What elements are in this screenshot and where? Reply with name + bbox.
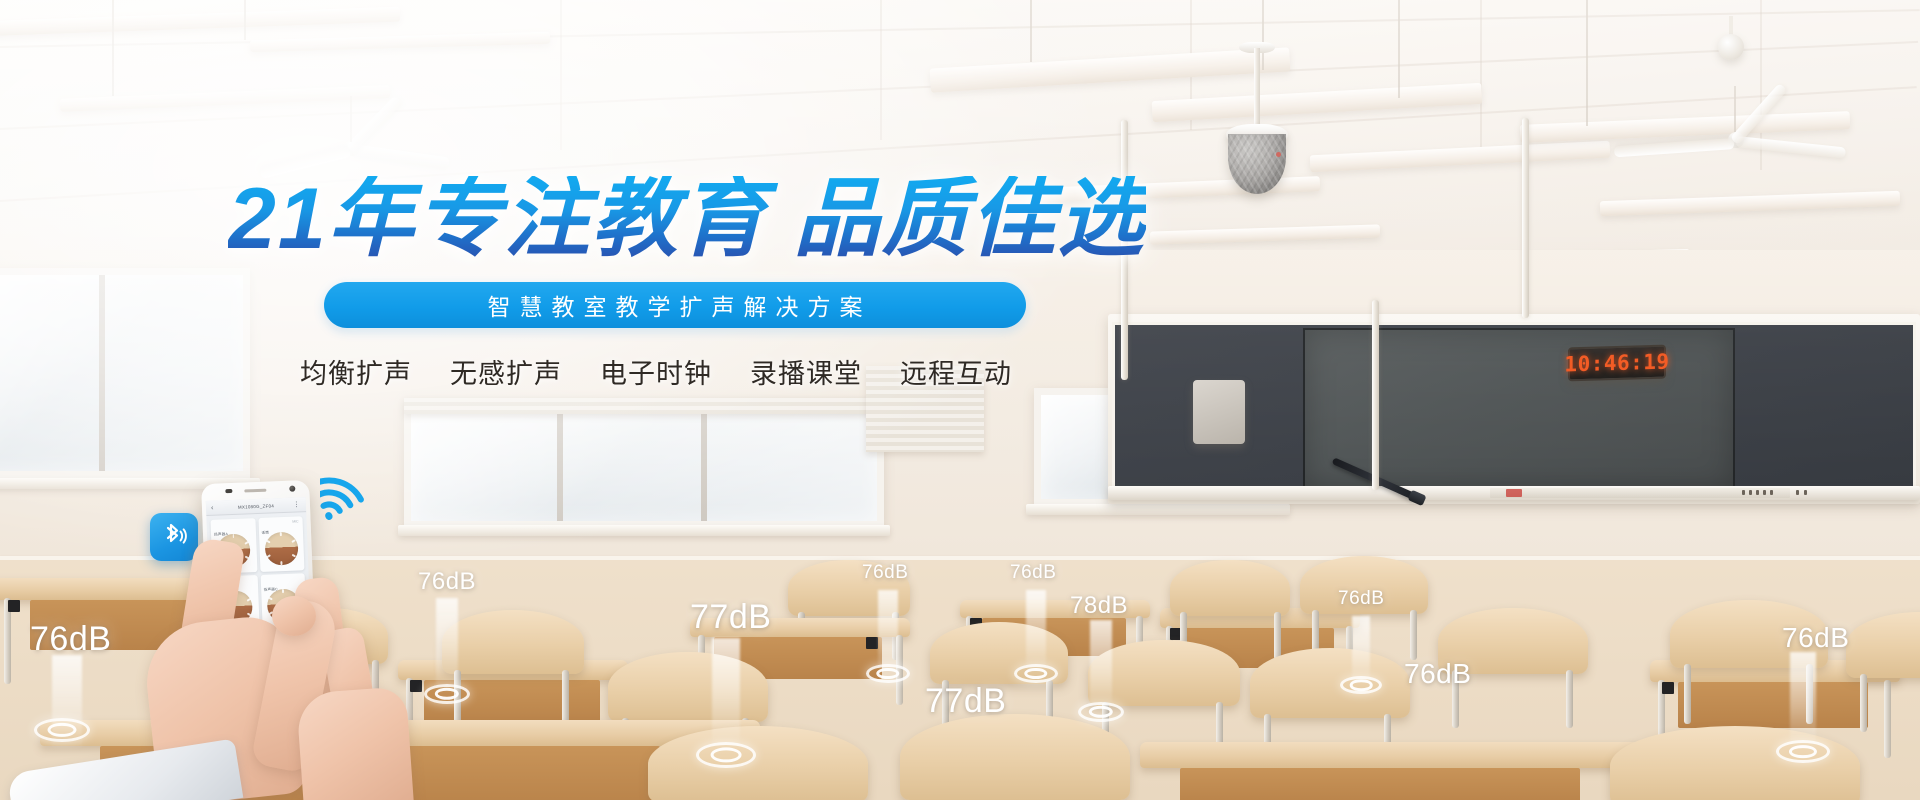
ceiling-rod [1262, 0, 1264, 70]
window-blind [404, 398, 884, 414]
chair-back [900, 714, 1130, 800]
desk-bracket [866, 637, 878, 649]
zone-name: 话筒 [261, 531, 269, 535]
chair-leg [1566, 670, 1573, 728]
rail-dot [1749, 490, 1752, 495]
desk-bracket [1662, 682, 1674, 694]
rail-panel [1490, 488, 1790, 498]
clock-time: 10:46:19 [1564, 350, 1669, 377]
ceiling-rod [1030, 0, 1032, 62]
sound-ripple-icon [424, 684, 470, 704]
chevron-left-icon[interactable]: ‹ [211, 504, 214, 511]
sound-ripple-icon [1014, 664, 1058, 683]
window-sill [398, 525, 890, 536]
zone-card[interactable]: 话筒MIC [258, 516, 305, 572]
ceiling-line [1480, 0, 1482, 150]
rail-dot [1770, 490, 1773, 495]
desk-top [1140, 742, 1640, 768]
interactive-display [1303, 328, 1735, 492]
chair-back [1610, 726, 1860, 800]
chair-back [648, 726, 868, 800]
chair-back [1300, 556, 1428, 614]
ceiling-rod [1586, 0, 1588, 126]
zone-badge: MIC [292, 519, 298, 523]
sound-ripple-icon [1776, 740, 1830, 763]
desk-panel [1180, 768, 1580, 800]
fan-rod [350, 96, 352, 142]
sound-ripple-icon [1078, 702, 1124, 722]
speaker-rod [1254, 48, 1260, 130]
chair-back [1170, 560, 1290, 616]
chair-back [1088, 640, 1240, 706]
subtitle-pill: 智慧教室教学扩声解决方案 [324, 282, 1026, 328]
support-pipe [1372, 300, 1379, 490]
bluetooth-icon[interactable] [150, 513, 198, 561]
rail-dot [1756, 490, 1759, 495]
front-camera-icon [289, 486, 295, 492]
sound-ripple-icon [1340, 676, 1382, 694]
window-mullion [99, 275, 105, 471]
chair-leg [1274, 612, 1281, 660]
feature-item-4: 录播课堂 [750, 352, 862, 391]
rail-dot [1804, 490, 1807, 495]
window-mullion [557, 405, 563, 521]
chair-leg [1452, 670, 1459, 728]
fingertip [272, 596, 316, 636]
earpiece-speaker [244, 489, 266, 493]
chair-leg [1410, 610, 1417, 660]
headline-part-2: 品质佳选 [794, 171, 1146, 267]
rail-dot [1742, 490, 1745, 495]
chair-back [1250, 648, 1410, 718]
chair-leg [1860, 674, 1867, 732]
wall-control-box [1193, 380, 1245, 444]
app-title: MX1080G_ZF04 [238, 503, 274, 509]
subtitle-text: 智慧教室教学扩声解决方案 [479, 288, 872, 322]
ceiling-line [560, 0, 562, 150]
chair-back [788, 560, 910, 616]
ceiling-rod [1398, 0, 1400, 98]
chair-back [1438, 608, 1588, 674]
more-vertical-icon[interactable]: ⋮ [293, 501, 300, 508]
chair-back [442, 610, 584, 674]
desk-leg [1884, 680, 1891, 758]
chair-back [608, 652, 768, 722]
feature-list: 均衡扩声无感扩声电子时钟录播课堂远程互动 [300, 352, 1012, 391]
chair-back [1670, 600, 1828, 668]
classroom-banner: 10:46:19 [0, 0, 1920, 800]
window-mullion [701, 405, 707, 521]
window-left [0, 268, 250, 478]
desk-panel [1678, 682, 1868, 728]
headline-part-1: 21年专注教育 [228, 171, 768, 267]
chair-leg [562, 670, 569, 726]
window-glare [0, 275, 243, 471]
desk-top [960, 600, 1150, 618]
sound-ripple-icon [696, 742, 756, 768]
proximity-sensor-icon [225, 489, 232, 493]
feature-item-5: 远程互动 [900, 352, 1012, 391]
rail-dot [1763, 490, 1766, 495]
ceiling-rod [112, 0, 114, 96]
wifi-signal-icon [320, 470, 376, 529]
ceiling-line [880, 0, 882, 140]
chair-leg [1684, 664, 1691, 724]
chair-leg [1806, 664, 1813, 724]
support-pipe [1522, 118, 1529, 318]
electronic-clock: 10:46:19 [1568, 345, 1666, 382]
fan-rod [1734, 86, 1736, 132]
sound-ripple-icon [866, 664, 910, 683]
window-glare [411, 405, 877, 521]
desk-bracket [410, 680, 422, 692]
rail-tag [1506, 489, 1522, 497]
window-sill [1026, 504, 1290, 515]
speaker-indicator [1276, 152, 1281, 157]
rail-dot [1796, 490, 1799, 495]
knuckle [296, 686, 414, 800]
ceiling-sensor [1718, 34, 1744, 60]
sound-ripple-icon [34, 718, 90, 742]
feature-item-2: 无感扩声 [450, 352, 562, 391]
feature-item-1: 均衡扩声 [300, 352, 412, 391]
ceiling-rod [244, 0, 246, 40]
zone-level-knob[interactable] [264, 531, 298, 565]
desk-bracket [8, 600, 20, 612]
page-title: 21年专注教育品质佳选 [228, 176, 1146, 262]
desk-top [690, 618, 910, 637]
feature-item-3: 电子时钟 [600, 352, 712, 391]
window-center [404, 398, 884, 528]
